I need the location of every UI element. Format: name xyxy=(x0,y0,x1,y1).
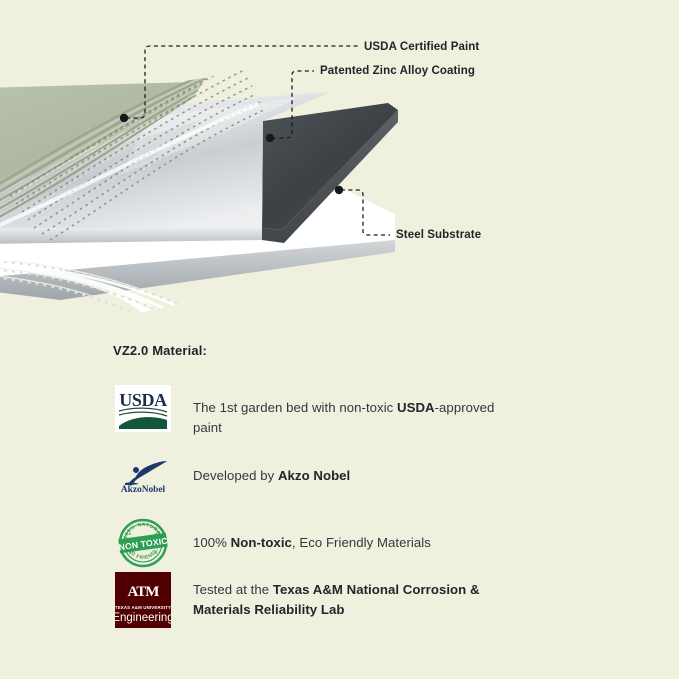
callout-dot-steel xyxy=(335,186,343,194)
feature-row-usda: USDA The 1st garden bed with non-toxic U… xyxy=(113,382,513,438)
feature-row-texas-am: ATM TEXAS A&M UNIVERSITY Engineering Tes… xyxy=(113,572,513,628)
feature-text-part-bold: USDA xyxy=(397,400,435,415)
badge-holder-texas-am: ATM TEXAS A&M UNIVERSITY Engineering xyxy=(113,572,173,628)
akzonobel-logo-svg: AkzoNobel xyxy=(115,456,171,494)
feature-row-akzonobel: AkzoNobel Developed by Akzo Nobel xyxy=(113,455,350,495)
texas-am-engineering-logo: ATM TEXAS A&M UNIVERSITY Engineering xyxy=(115,572,171,628)
cutaway-illustration xyxy=(0,0,679,330)
feature-text-part: Developed by xyxy=(193,468,278,483)
feature-text-texas-am: Tested at the Texas A&M National Corrosi… xyxy=(193,572,513,620)
texas-am-college-text: Engineering xyxy=(115,612,171,624)
callout-label-steel-substrate: Steel Substrate xyxy=(396,229,481,241)
usda-logo-svg: USDA xyxy=(115,385,171,432)
callout-dot-paint xyxy=(120,114,128,122)
callout-label-patented-zinc-alloy-coating: Patented Zinc Alloy Coating xyxy=(320,65,475,77)
callout-dot-zinc xyxy=(266,134,274,142)
feature-text-part: The 1st garden bed with non-toxic xyxy=(193,400,397,415)
texas-am-monogram: ATM xyxy=(128,584,160,600)
texas-am-logo-svg: ATM TEXAS A&M UNIVERSITY Engineering xyxy=(115,572,171,628)
feature-text-part: 100% xyxy=(193,535,231,550)
badge-holder-non-toxic: NON TOXIC 100% NATURAL ECO FRIENDLY xyxy=(113,518,173,568)
akzonobel-wordmark: AkzoNobel xyxy=(121,485,166,494)
feature-text-part-bold: Akzo Nobel xyxy=(278,468,350,483)
feature-text-part: Tested at the xyxy=(193,582,273,597)
texas-am-university-text: TEXAS A&M UNIVERSITY xyxy=(115,605,171,610)
non-toxic-stamp: NON TOXIC 100% NATURAL ECO FRIENDLY xyxy=(118,518,168,568)
non-toxic-stamp-svg: NON TOXIC 100% NATURAL ECO FRIENDLY xyxy=(118,518,168,568)
feature-text-part-bold: Non-toxic xyxy=(231,535,292,550)
usda-wordmark: USDA xyxy=(119,390,167,410)
feature-text-non-toxic: 100% Non-toxic, Eco Friendly Materials xyxy=(193,518,431,553)
feature-text-part: , Eco Friendly Materials xyxy=(292,535,431,550)
material-heading: VZ2.0 Material: xyxy=(113,343,207,358)
feature-text-akzonobel: Developed by Akzo Nobel xyxy=(193,455,350,486)
akzonobel-logo: AkzoNobel xyxy=(115,456,171,494)
callout-label-usda-certified-paint: USDA Certified Paint xyxy=(364,41,479,53)
badge-holder-akzonobel: AkzoNobel xyxy=(113,455,173,495)
usda-logo: USDA xyxy=(115,385,171,432)
material-features-section: VZ2.0 Material: USDA The 1st garden bed … xyxy=(0,330,679,679)
feature-text-usda: The 1st garden bed with non-toxic USDA-a… xyxy=(193,382,513,438)
feature-row-non-toxic: NON TOXIC 100% NATURAL ECO FRIENDLY 100%… xyxy=(113,518,431,568)
badge-holder-usda: USDA xyxy=(113,382,173,434)
material-cutaway-diagram: USDA Certified Paint Patented Zinc Alloy… xyxy=(0,0,679,330)
